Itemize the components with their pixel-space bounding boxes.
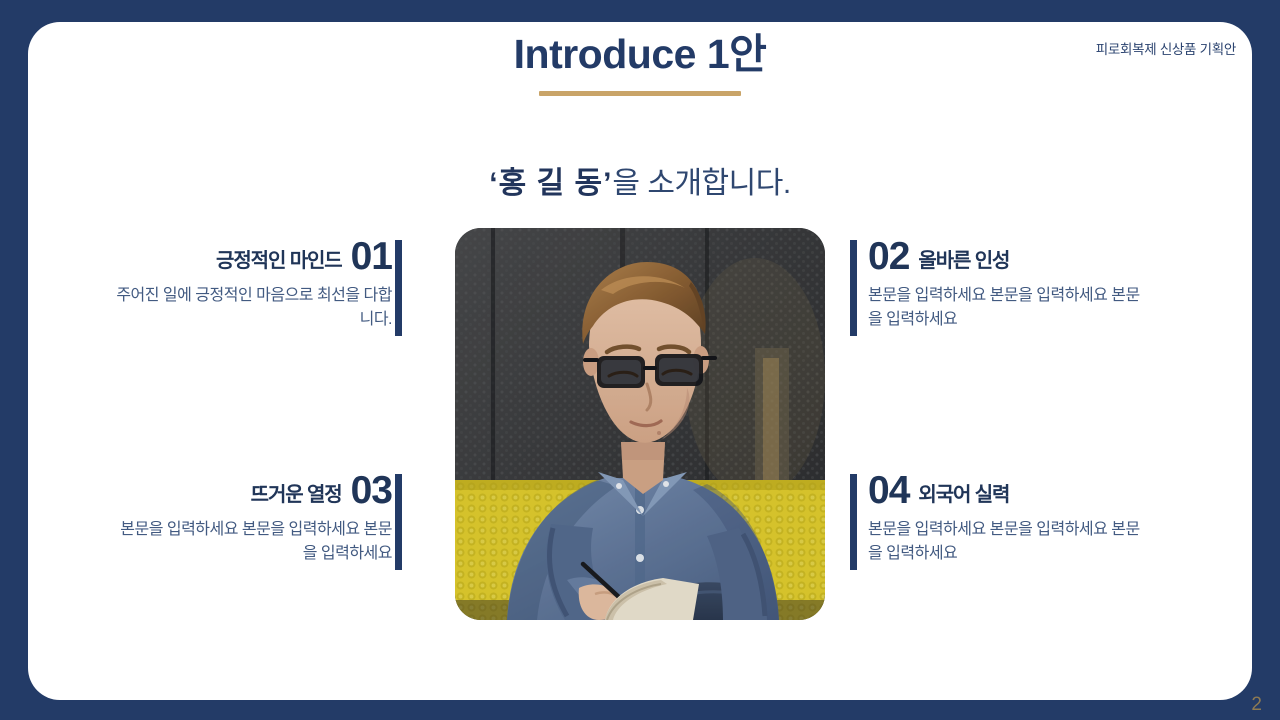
feature-number: 03 — [351, 472, 392, 509]
feature-heading: 02 올바른 인성 — [868, 238, 1146, 275]
page-title: Introduce 1안 — [0, 32, 1280, 77]
subtitle: ‘홍 길 동’을 소개합니다. — [0, 158, 1280, 202]
feature-item-04: 04 외국어 실력 본문을 입력하세요 본문을 입력하세요 본문을 입력하세요 — [868, 472, 1146, 566]
feature-label: 외국어 실력 — [918, 478, 1009, 507]
feature-item-01: 긍정적인 마인드 01 주어진 일에 긍정적인 마음으로 최선을 다합니다. — [114, 238, 392, 332]
feature-heading: 뜨거운 열정 03 — [114, 472, 392, 509]
feature-body: 본문을 입력하세요 본문을 입력하세요 본문을 입력하세요 — [114, 518, 392, 566]
feature-number: 01 — [351, 238, 392, 275]
feature-accent-bar-04 — [850, 474, 857, 570]
feature-item-02: 02 올바른 인성 본문을 입력하세요 본문을 입력하세요 본문을 입력하세요 — [868, 238, 1146, 332]
feature-heading: 04 외국어 실력 — [868, 472, 1146, 509]
title-block: Introduce 1안 — [0, 32, 1280, 96]
feature-accent-bar-01 — [395, 240, 402, 336]
feature-accent-bar-03 — [395, 474, 402, 570]
slide-canvas: 피로회복제 신상품 기획안 Introduce 1안 ‘홍 길 동’을 소개합니… — [0, 0, 1280, 720]
feature-item-03: 뜨거운 열정 03 본문을 입력하세요 본문을 입력하세요 본문을 입력하세요 — [114, 472, 392, 566]
feature-accent-bar-02 — [850, 240, 857, 336]
subtitle-rest: 을 소개합니다. — [612, 167, 790, 200]
subtitle-name: ‘홍 길 동’ — [489, 167, 612, 200]
portrait-photo-graphic — [455, 228, 825, 620]
page-number: 2 — [1251, 694, 1262, 716]
feature-number: 04 — [868, 472, 909, 509]
feature-body: 본문을 입력하세요 본문을 입력하세요 본문을 입력하세요 — [868, 518, 1146, 566]
feature-label: 올바른 인성 — [918, 244, 1009, 273]
feature-heading: 긍정적인 마인드 01 — [114, 238, 392, 275]
feature-label: 뜨거운 열정 — [251, 478, 342, 507]
feature-number: 02 — [868, 238, 909, 275]
feature-body: 본문을 입력하세요 본문을 입력하세요 본문을 입력하세요 — [868, 284, 1146, 332]
feature-body: 주어진 일에 긍정적인 마음으로 최선을 다합니다. — [114, 284, 392, 332]
title-underline-rule — [539, 91, 741, 96]
feature-label: 긍정적인 마인드 — [216, 244, 342, 273]
portrait-photo — [455, 228, 825, 620]
